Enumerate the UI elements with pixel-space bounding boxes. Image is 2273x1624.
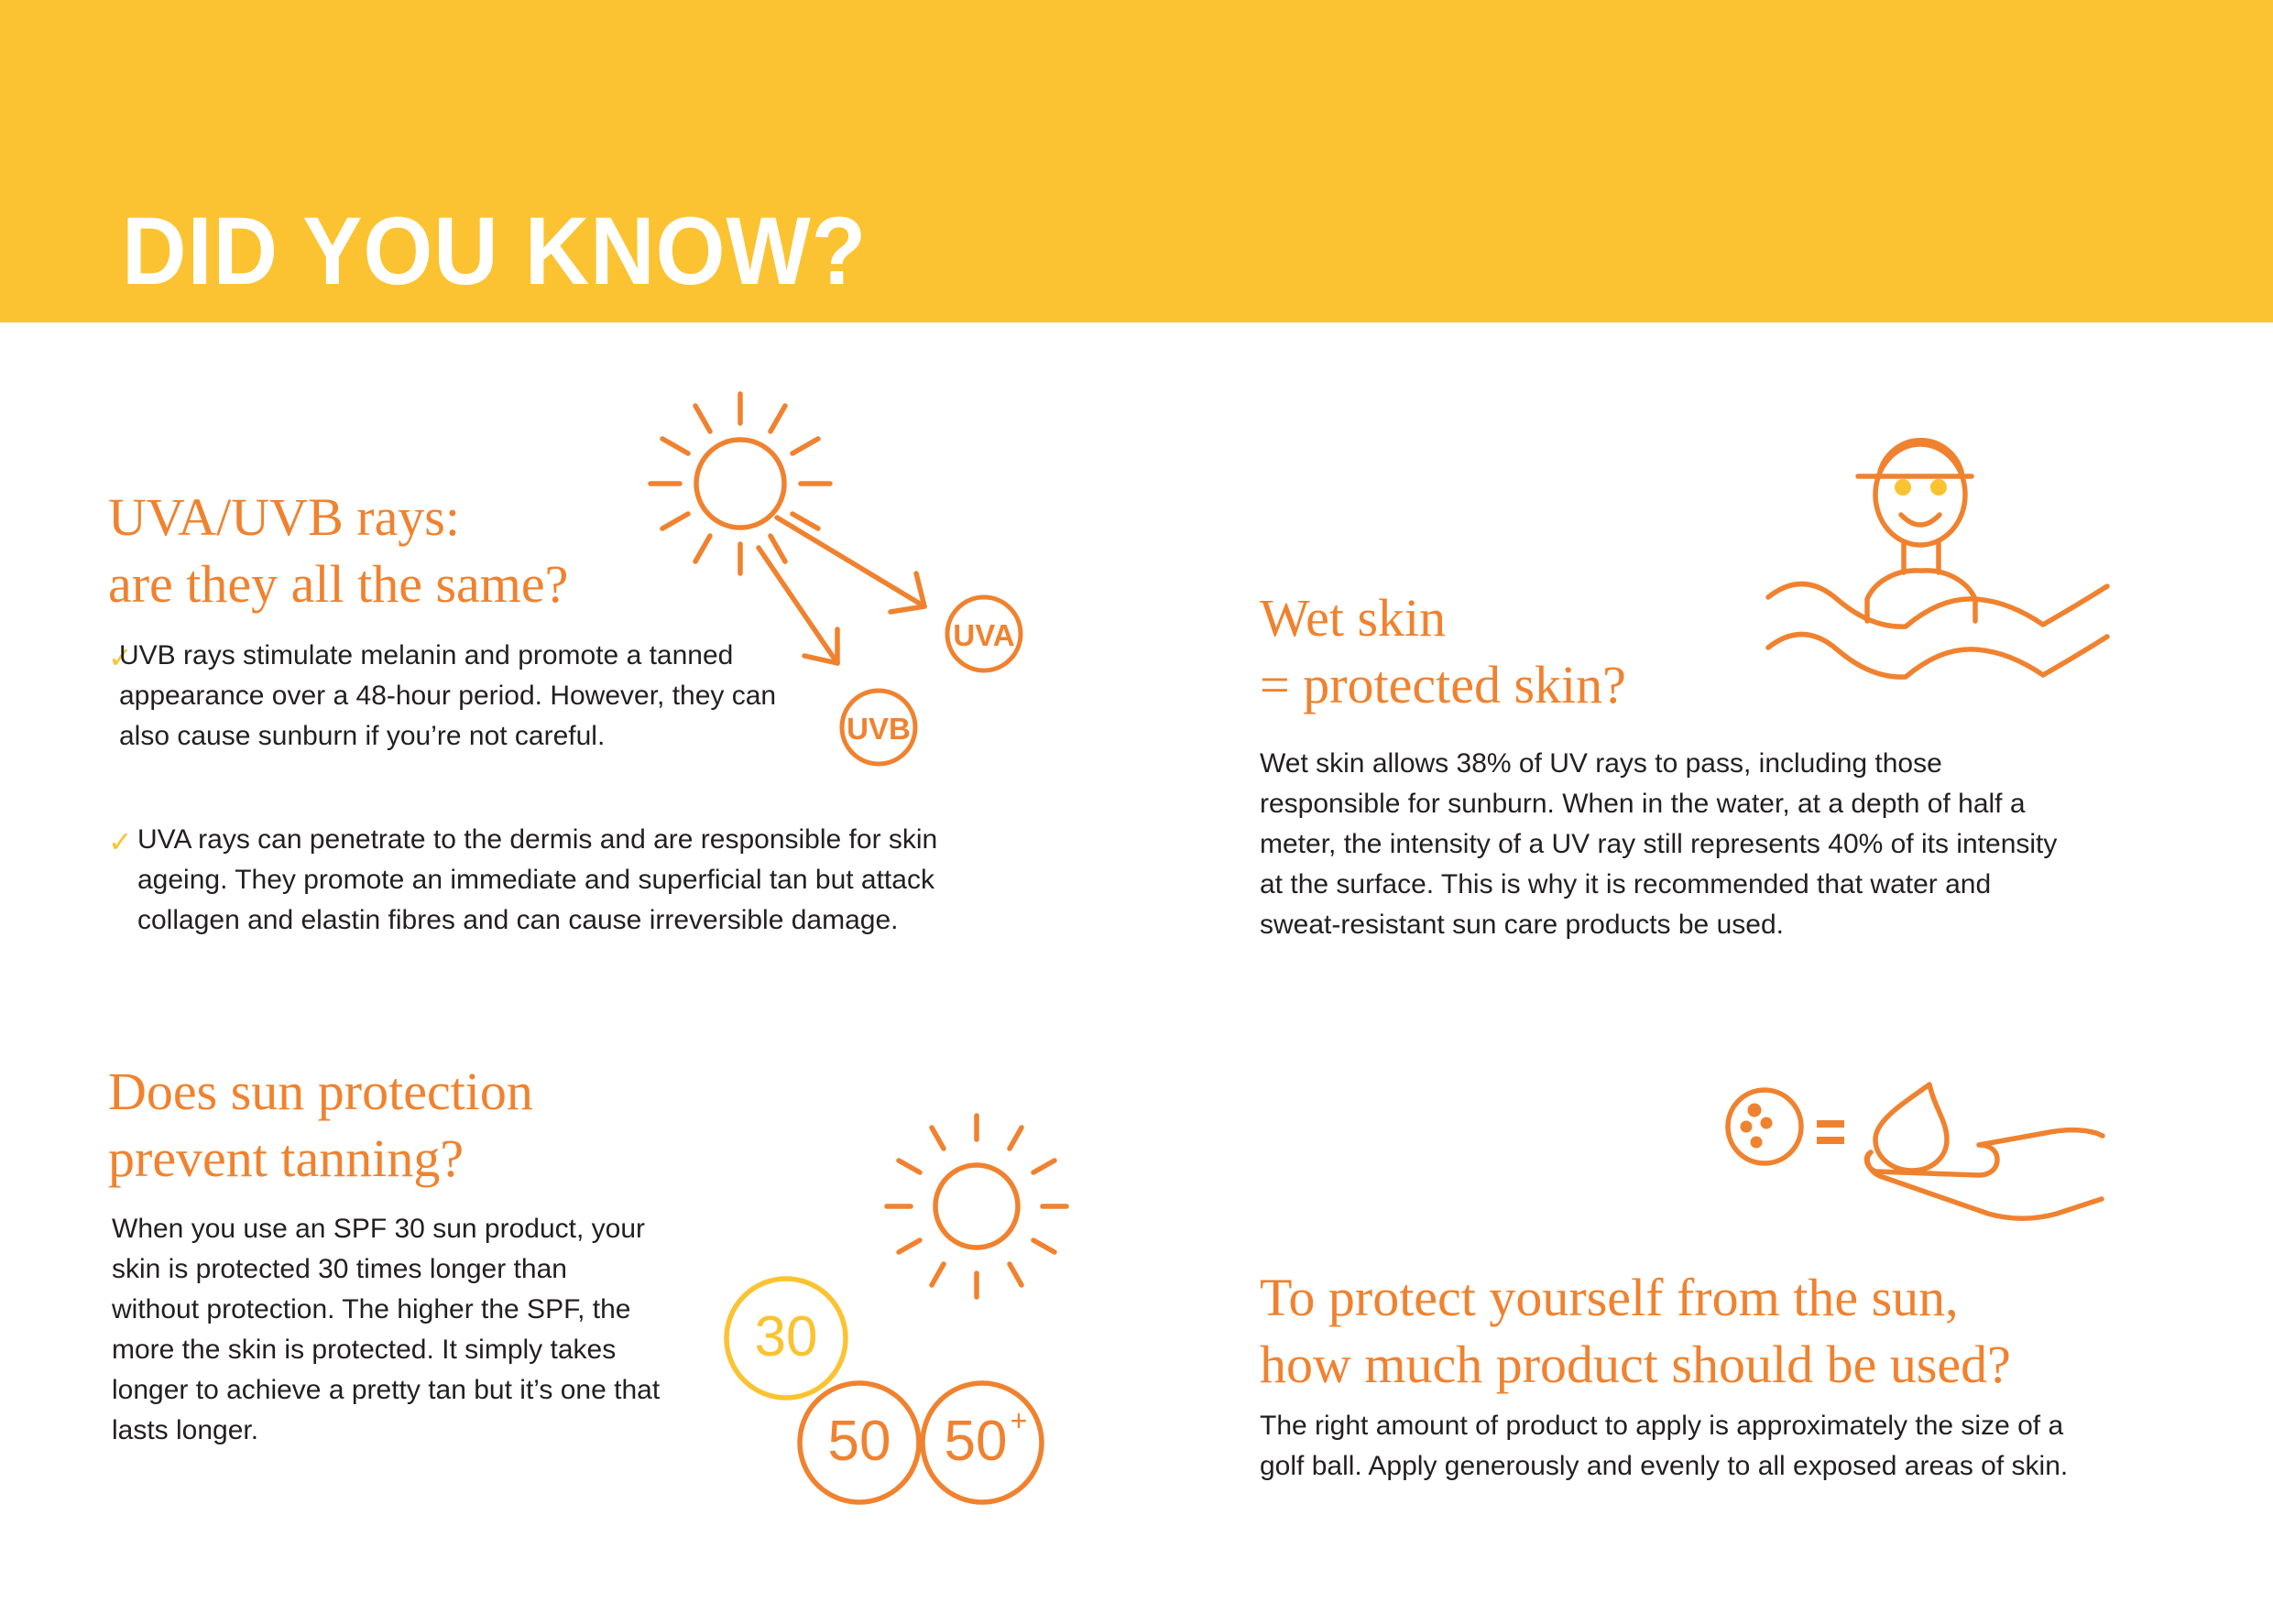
bullet-text-uva: UVA rays can penetrate to the dermis and… [137,820,962,941]
sun-uva-uvb-diagram: UVA UVB [623,376,1054,779]
water-wave-2 [1768,634,2107,677]
golf-ball-dimple [1741,1121,1753,1133]
spf-label-50-plus: 50 [945,1410,1008,1473]
body-wet-skin: Wet skin allows 38% of UV rays to pass, … [1260,744,2066,945]
swimmer-in-water-icon [1759,431,2144,705]
spf-label-plus-suffix: + [1011,1404,1028,1437]
arrow-to-uvb [759,548,837,663]
sun-icon [887,1116,1066,1297]
swimmer-smile [1901,515,1940,525]
heading-tanning: Does sun protection prevent tanning? [108,1058,749,1192]
golf-ball-dimple [1761,1117,1773,1129]
sun-uva-uvb-svg: UVA UVB [623,376,1054,779]
spf-label-30: 30 [755,1305,818,1368]
golf-hand-svg [1713,1081,2135,1255]
uvb-label: UVB [847,712,911,746]
infographic-page: DID YOU KNOW? UVA/UVB rays: are they all… [0,0,2273,1624]
equals-icon [1817,1120,1844,1144]
spf-circles-with-sun: 30 50 50 + [696,1081,1118,1548]
spf-svg: 30 50 50 + [696,1081,1118,1548]
swimmer-head [1875,444,1965,545]
arrow-to-uva [777,518,924,612]
water-wave-1 [1768,583,2107,627]
product-droplet-icon [1875,1084,1947,1171]
hand-palm [1867,1152,2102,1218]
swimmer-eye-left [1895,479,1911,496]
header-banner: DID YOU KNOW? [0,0,2273,322]
swimmer-eye-right [1930,479,1947,496]
spf-label-50: 50 [828,1410,891,1473]
body-product-amount: The right amount of product to apply is … [1260,1406,2084,1487]
sun-circle [696,440,784,528]
golf-ball-dimple [1748,1104,1762,1117]
heading-product-amount: To protect yourself from the sun, how mu… [1260,1264,2139,1398]
page-title: DID YOU KNOW? [122,203,867,300]
uva-label: UVA [953,618,1014,652]
golf-ball-equals-hand-icon [1713,1081,2135,1255]
check-icon: ✓ [108,827,133,856]
golf-ball-dimple [1751,1137,1763,1149]
body-tanning: When you use an SPF 30 sun product, your… [112,1209,661,1452]
swimmer-svg [1759,431,2144,705]
